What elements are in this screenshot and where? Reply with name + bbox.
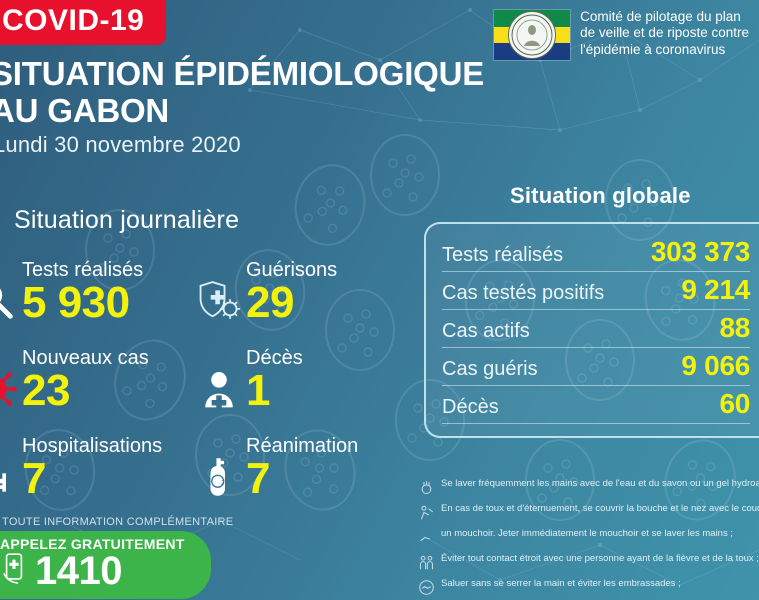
stat-value: 5 930 bbox=[22, 281, 143, 326]
advice-text: un mouchoir. Jeter immédiatement le mouc… bbox=[441, 528, 733, 540]
stat-hospitalisations: Hospitalisations 7 bbox=[0, 434, 192, 522]
prevention-advice-list: Se laver fréquemment les mains avec de l… bbox=[418, 478, 759, 600]
infographic-root: COVID-19 SITUATION ÉPIDÉMIOLOGIQUE AU GA… bbox=[0, 0, 759, 600]
global-value: 88 bbox=[719, 312, 750, 344]
washing-hands-icon bbox=[418, 479, 435, 496]
advice-text: En cas de toux et d'éternuement, se couv… bbox=[441, 503, 759, 515]
advice-text: Se laver fréquemment les mains avec de l… bbox=[441, 478, 759, 490]
global-label: Cas testés positifs bbox=[442, 282, 604, 305]
page-title: SITUATION ÉPIDÉMIOLOGIQUE AU GABON bbox=[0, 56, 484, 130]
global-label: Tests réalisés bbox=[442, 244, 563, 267]
advice-item: Se laver fréquemment les mains avec de l… bbox=[418, 478, 759, 496]
covid-badge: COVID-19 bbox=[0, 0, 166, 45]
advice-item: En cas de toux et d'éternuement, se couv… bbox=[418, 503, 759, 521]
stat-deces: Décès 1 bbox=[192, 346, 388, 434]
coronavirus-icon bbox=[0, 360, 22, 418]
daily-stats-grid: Tests réalisés 5 930 bbox=[0, 258, 388, 522]
org-line-1: Comité de pilotage du plan bbox=[580, 9, 749, 25]
org-line-2: de veille et de riposte contre bbox=[580, 25, 749, 41]
call-banner: TOUTE INFORMATION COMPLÉMENTAIRE APPELEZ… bbox=[0, 516, 233, 599]
shield-cross-virus-icon bbox=[192, 272, 246, 330]
hospital-bed-icon bbox=[0, 448, 22, 506]
emergency-phone-number: 1410 bbox=[35, 551, 122, 591]
call-banner-pill[interactable]: APPELEZ GRATUITEMENT 1410 bbox=[0, 531, 211, 599]
stat-tests-realises: Tests réalisés 5 930 bbox=[0, 258, 192, 346]
daily-section-title: Situation journalière bbox=[14, 206, 239, 235]
global-row: Décès 60 bbox=[442, 386, 750, 424]
oxygen-tank-icon: 2 bbox=[192, 448, 246, 506]
global-row: Tests réalisés 303 373 bbox=[442, 234, 750, 272]
stat-reanimation: 2 Réanimation 7 bbox=[192, 434, 388, 522]
global-value: 303 373 bbox=[651, 236, 750, 268]
page-title-line2: AU GABON bbox=[0, 93, 484, 130]
republic-seal-icon bbox=[508, 11, 556, 59]
page-title-line1: SITUATION ÉPIDÉMIOLOGIQUE bbox=[0, 56, 484, 93]
phone-medical-icon bbox=[0, 552, 28, 591]
daily-row-1: Tests réalisés 5 930 bbox=[0, 258, 388, 346]
call-banner-top-text: TOUTE INFORMATION COMPLÉMENTAIRE bbox=[2, 516, 233, 528]
global-row: Cas actifs 88 bbox=[442, 310, 750, 348]
stat-nouveaux-cas: Nouveaux cas 23 bbox=[0, 346, 192, 434]
stat-value: 7 bbox=[22, 457, 162, 502]
global-value: 9 066 bbox=[681, 350, 750, 382]
daily-row-2: Nouveaux cas 23 Décès 1 bbox=[0, 346, 388, 434]
stat-guerisons: Guérisons 29 bbox=[192, 258, 388, 346]
svg-text:2: 2 bbox=[221, 481, 224, 487]
global-value: 9 214 bbox=[681, 274, 750, 306]
stat-value: 29 bbox=[246, 281, 337, 326]
global-row: Cas guéris 9 066 bbox=[442, 348, 750, 386]
gabon-flag-emblem bbox=[493, 9, 571, 61]
org-line-3: l'épidémie à coronavirus bbox=[580, 42, 749, 58]
global-row: Cas testés positifs 9 214 bbox=[442, 272, 750, 310]
organization-header: Comité de pilotage du plan de veille et … bbox=[493, 9, 749, 61]
stat-value: 1 bbox=[246, 369, 303, 414]
global-label: Cas guéris bbox=[442, 358, 538, 381]
global-label: Cas actifs bbox=[442, 320, 530, 343]
advice-item: Saluer sans se serrer la main et éviter … bbox=[418, 578, 759, 596]
no-handshake-icon bbox=[418, 579, 435, 596]
global-section-title: Situation globale bbox=[510, 183, 691, 209]
global-value: 60 bbox=[719, 388, 750, 420]
global-stats-panel: Tests réalisés 303 373 Cas testés positi… bbox=[424, 222, 759, 438]
magnifier-icon bbox=[0, 272, 22, 330]
report-date: Lundi 30 novembre 2020 bbox=[0, 132, 241, 158]
daily-row-3: Hospitalisations 7 2 Réanimation 7 bbox=[0, 434, 388, 522]
person-cross-icon bbox=[192, 360, 246, 418]
cough-elbow-icon-2 bbox=[418, 529, 435, 546]
advice-text: Saluer sans se serrer la main et éviter … bbox=[441, 578, 681, 590]
cough-elbow-icon bbox=[418, 504, 435, 521]
organization-name: Comité de pilotage du plan de veille et … bbox=[580, 9, 749, 58]
stat-value: 23 bbox=[22, 369, 149, 414]
global-label: Décès bbox=[442, 396, 499, 419]
stat-value: 7 bbox=[246, 457, 358, 502]
advice-item: Éviter tout contact étroit avec une pers… bbox=[418, 553, 759, 571]
advice-item-continuation: un mouchoir. Jeter immédiatement le mouc… bbox=[418, 528, 759, 546]
advice-text: Éviter tout contact étroit avec une pers… bbox=[441, 553, 759, 565]
distance-icon bbox=[418, 554, 435, 571]
